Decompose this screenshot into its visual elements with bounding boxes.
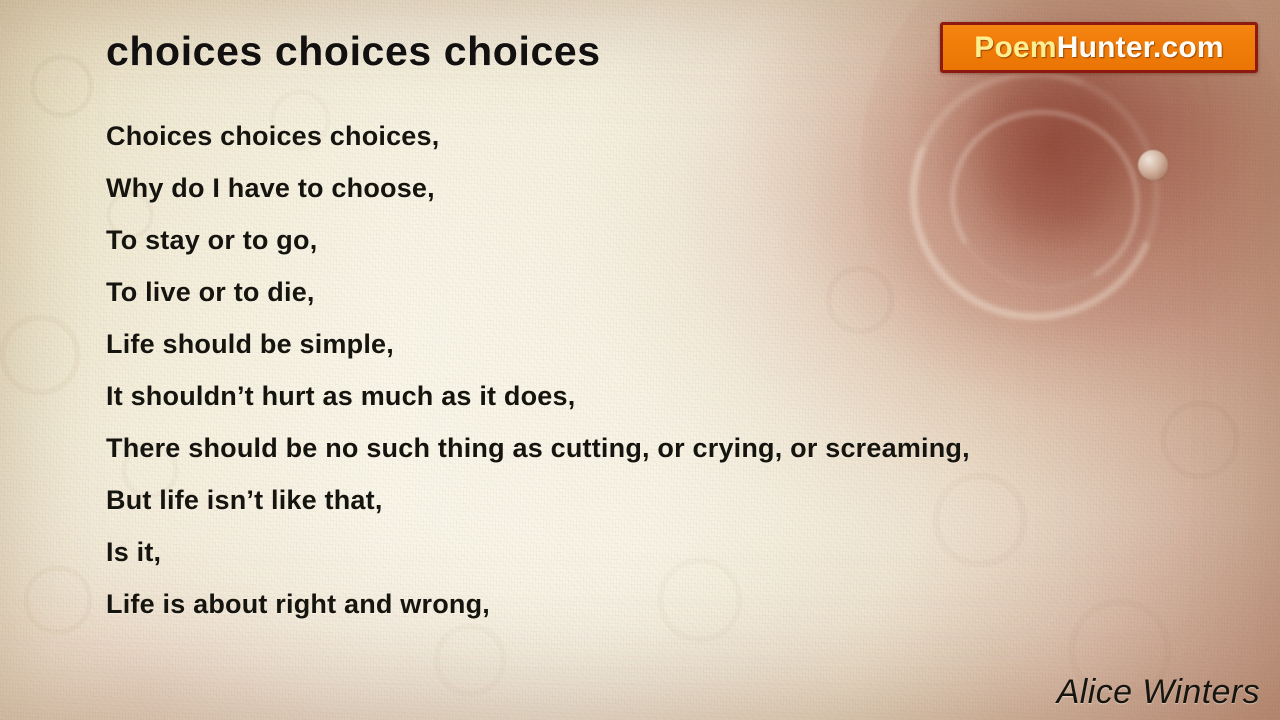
page-title: choices choices choices	[106, 28, 601, 75]
poem-line: To stay or to go,	[106, 214, 1186, 266]
poem-line: There should be no such thing as cutting…	[106, 422, 1186, 474]
poem-line: Life is about right and wrong,	[106, 578, 1186, 630]
poem-line: It shouldn’t hurt as much as it does,	[106, 370, 1186, 422]
poem-line: But life isn’t like that,	[106, 474, 1186, 526]
poem-line: Choices choices choices,	[106, 110, 1186, 162]
poem-content: choices choices choices Choices choices …	[0, 0, 1280, 720]
poem-line: To live or to die,	[106, 266, 1186, 318]
site-logo-text: PoemHunter.com	[974, 33, 1224, 63]
poem-line: Life should be simple,	[106, 318, 1186, 370]
site-logo-text-hunter: Hunter.com	[1057, 31, 1224, 64]
site-logo-badge[interactable]: PoemHunter.com	[940, 22, 1258, 73]
poem-author: Alice Winters	[1057, 673, 1260, 712]
site-logo-text-poem: Poem	[974, 31, 1057, 64]
poem-body: Choices choices choices, Why do I have t…	[106, 110, 1186, 630]
poem-line: Is it,	[106, 526, 1186, 578]
poem-line: Why do I have to choose,	[106, 162, 1186, 214]
poem-card: choices choices choices Choices choices …	[0, 0, 1280, 720]
